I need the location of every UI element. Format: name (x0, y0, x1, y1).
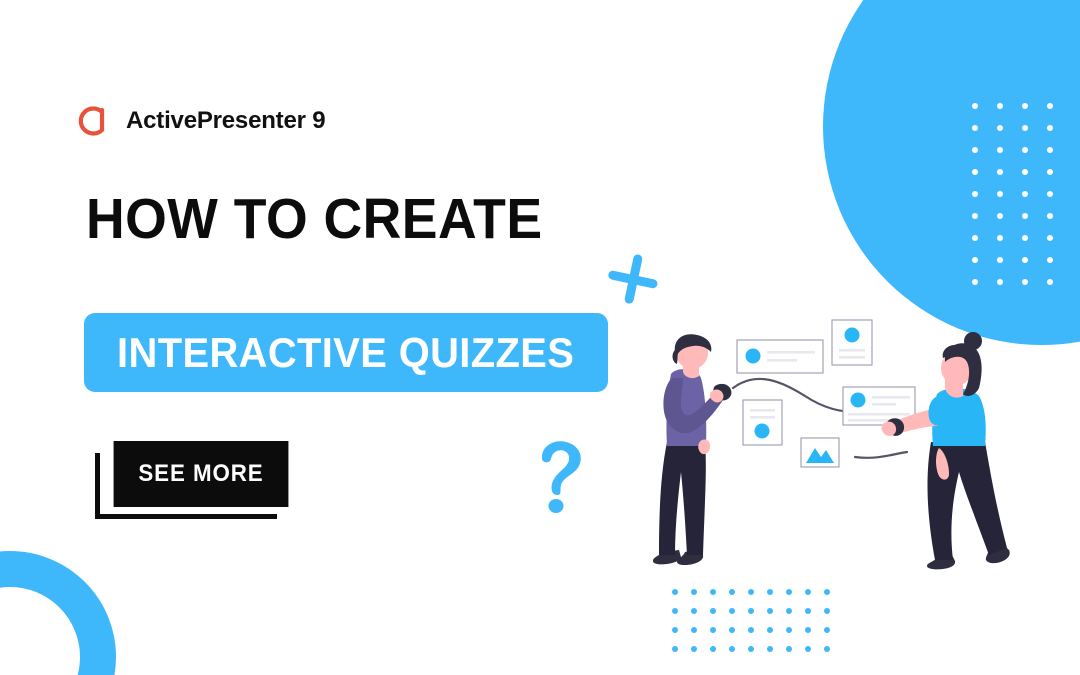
woman-figure (882, 332, 1010, 569)
quiz-card-tall-top (832, 320, 872, 365)
two-people-connecting-quiz-cards-illustration (645, 312, 1035, 592)
promo-banner: ActivePresenter 9 HOW TO CREATE INTERACT… (0, 0, 1080, 675)
quiz-card-wide-left (737, 340, 823, 373)
white-dot-grid-decoration (972, 103, 1072, 301)
blue-ring-arc-decoration (0, 551, 116, 675)
brand-logo: ActivePresenter 9 (72, 101, 325, 141)
quiz-card-tall-left (743, 400, 782, 445)
subtitle-highlight-bar: INTERACTIVE QUIZZES (84, 313, 608, 392)
question-mark-icon (528, 437, 590, 515)
plus-icon (599, 245, 668, 314)
image-card (801, 438, 839, 467)
man-figure (653, 334, 731, 565)
page-title: HOW TO CREATE (86, 190, 543, 250)
activepresenter-a-logo-icon (72, 101, 112, 141)
product-name: ActivePresenter 9 (126, 107, 325, 135)
see-more-cta: SEE MORE (95, 441, 295, 523)
see-more-button[interactable]: SEE MORE (114, 441, 289, 507)
blue-dot-grid-decoration (672, 589, 843, 665)
subtitle-text: INTERACTIVE QUIZZES (117, 329, 574, 377)
